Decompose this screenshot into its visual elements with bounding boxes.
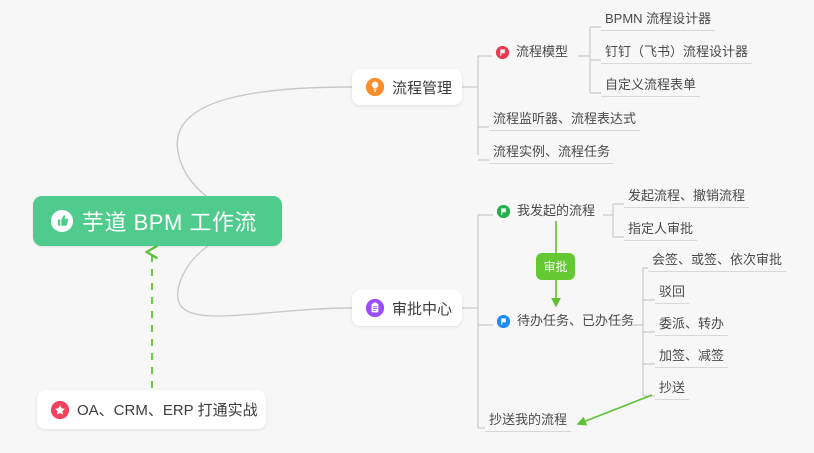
node-label: 待办任务、已办任务 <box>517 313 634 329</box>
flag-icon <box>497 315 510 328</box>
node-label: 我发起的流程 <box>517 203 595 219</box>
root-label: 芋道 BPM 工作流 <box>82 205 257 237</box>
branch-label: 审批中心 <box>392 298 452 319</box>
node-bpmn-designer[interactable]: BPMN 流程设计器 <box>601 11 715 31</box>
flag-icon <box>496 46 509 59</box>
node-my-initiated[interactable]: 我发起的流程 <box>493 203 599 219</box>
node-countersign[interactable]: 会签、或签、依次审批 <box>648 252 786 272</box>
node-assign-approve[interactable]: 指定人审批 <box>624 221 697 241</box>
flag-icon <box>497 205 510 218</box>
clipboard-icon <box>366 299 384 317</box>
node-listener-expression[interactable]: 流程监听器、流程表达式 <box>489 111 640 131</box>
node-start-cancel[interactable]: 发起流程、撤销流程 <box>624 188 749 208</box>
node-instance-task[interactable]: 流程实例、流程任务 <box>489 144 614 164</box>
node-process-model[interactable]: 流程模型 <box>492 44 572 60</box>
floating-node-label: OA、CRM、ERP 打通实战 <box>77 399 258 420</box>
branch-node-process-mgmt[interactable]: 流程管理 <box>352 69 462 105</box>
node-dingtalk-designer[interactable]: 钉钉（飞书）流程设计器 <box>601 44 752 64</box>
node-delegate-transfer[interactable]: 委派、转办 <box>655 316 728 336</box>
lightbulb-icon <box>366 78 384 96</box>
branch-label: 流程管理 <box>392 77 452 98</box>
edge-cc-to-cc-to-me <box>578 395 652 424</box>
annotation-approval-pill: 审批 <box>536 253 575 280</box>
node-add-remove-sign[interactable]: 加签、减签 <box>655 348 728 368</box>
node-custom-form[interactable]: 自定义流程表单 <box>601 77 700 97</box>
node-cc-to-me[interactable]: 抄送我的流程 <box>485 412 571 432</box>
node-cc[interactable]: 抄送 <box>655 380 689 400</box>
star-icon <box>51 401 69 419</box>
floating-node-integration[interactable]: OA、CRM、ERP 打通实战 <box>37 390 266 429</box>
thumbs-up-icon <box>51 210 73 232</box>
annotation-label: 审批 <box>543 258 567 275</box>
root-node[interactable]: 芋道 BPM 工作流 <box>33 196 282 246</box>
node-label: 流程模型 <box>516 44 568 60</box>
node-todo-done[interactable]: 待办任务、已办任务 <box>493 313 638 329</box>
branch-node-approval-center[interactable]: 审批中心 <box>352 290 462 326</box>
node-reject[interactable]: 驳回 <box>655 284 689 304</box>
mindmap-canvas: 芋道 BPM 工作流 流程管理 审批中心 <box>0 0 814 453</box>
